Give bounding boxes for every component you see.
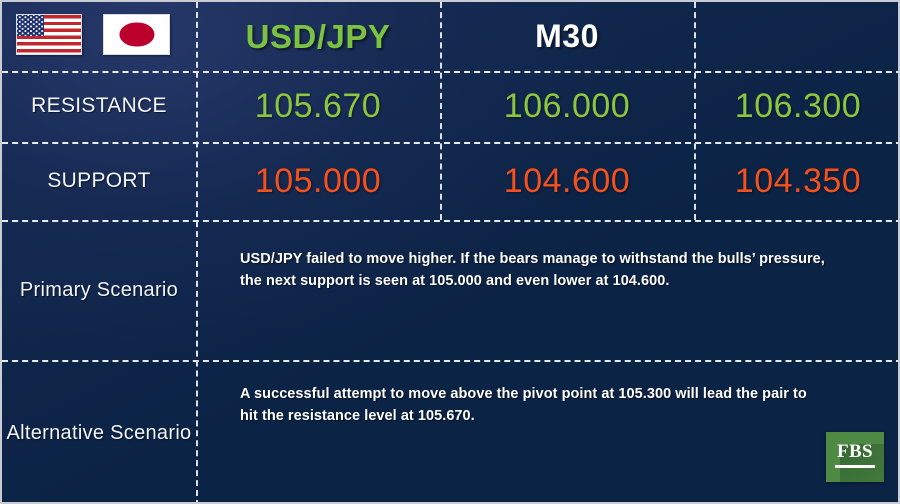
resistance-cell-2: 106.000 — [440, 71, 694, 142]
us-flag-canton — [17, 15, 44, 36]
support-value-3: 104.350 — [735, 162, 861, 201]
resistance-cell-3: 106.300 — [694, 71, 900, 142]
resistance-value-2: 106.000 — [504, 87, 630, 126]
support-value-2: 104.600 — [504, 162, 630, 201]
currency-pair-title: USD/JPY — [246, 18, 391, 56]
resistance-value-3: 106.300 — [735, 87, 861, 126]
fbs-logo: FBS — [826, 432, 884, 482]
timeframe-cell: M30 — [440, 2, 694, 71]
row-label-support: SUPPORT — [47, 168, 150, 194]
currency-pair-cell: USD/JPY — [196, 2, 440, 71]
support-cell-2: 104.600 — [440, 142, 694, 220]
japan-flag-icon — [103, 14, 170, 55]
row-label-support-cell: SUPPORT — [2, 142, 196, 220]
support-value-1: 105.000 — [255, 162, 381, 201]
support-cell-3: 104.350 — [694, 142, 900, 220]
primary-scenario-text: USD/JPY failed to move higher. If the be… — [240, 248, 832, 292]
primary-scenario-label-cell: Primary Scenario — [2, 220, 196, 360]
row-label-resistance-cell: RESISTANCE — [2, 71, 196, 142]
resistance-value-1: 105.670 — [255, 87, 381, 126]
japan-flag-sun — [119, 22, 154, 47]
alternative-scenario-text: A successful attempt to move above the p… — [240, 383, 825, 427]
currency-flags-cell — [2, 2, 196, 71]
trend-direction-cell — [694, 2, 900, 71]
resistance-cell-1: 105.670 — [196, 71, 440, 142]
fbs-logo-bar — [835, 465, 875, 468]
primary-scenario-label: Primary Scenario — [20, 278, 178, 303]
alternative-scenario-label-cell: Alternative Scenario — [2, 360, 196, 504]
timeframe-title: M30 — [535, 18, 599, 55]
fbs-logo-text: FBS — [826, 441, 884, 463]
row-label-resistance: RESISTANCE — [31, 93, 167, 119]
alternative-scenario-label: Alternative Scenario — [7, 421, 192, 446]
support-cell-1: 105.000 — [196, 142, 440, 220]
forex-analysis-card: USD/JPY M30 RESISTANCE 105.670 106.000 1… — [0, 0, 900, 504]
us-flag-icon — [16, 14, 82, 55]
